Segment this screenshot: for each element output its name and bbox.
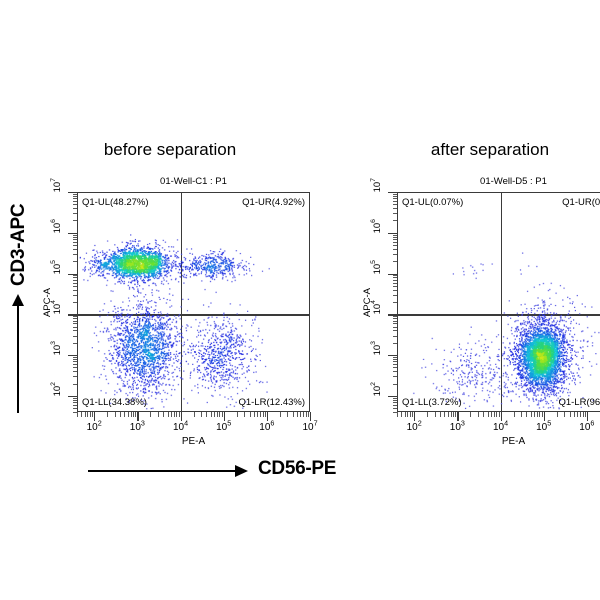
x-tick-label: 104 [493, 422, 508, 433]
plot-frame-before[interactable]: Q1-UL(48.27%) Q1-UR(4.92%) Q1-LL(34.38%)… [77, 192, 310, 412]
x-tick-label: 102 [407, 422, 422, 433]
y-tick-label: 107 [372, 178, 383, 192]
quadrant-label-lr-before: Q1-LR(12.43%) [238, 397, 305, 408]
y-tick-label: 102 [52, 382, 63, 396]
plot-title-after: 01-Well-D5 : P1 [397, 176, 600, 187]
x-axis-name-after: PE-A [397, 436, 600, 447]
y-axis-ticks-before [68, 192, 77, 412]
panel-heading-after: after separation [325, 140, 600, 160]
quadrant-label-ul-before: Q1-UL(48.27%) [82, 197, 149, 208]
y-tick-label: 103 [52, 341, 63, 355]
quadrant-label-lr-after: Q1-LR(96.19%) [558, 397, 600, 408]
x-tick-label: 103 [130, 422, 145, 433]
x-axis-ticks-after [397, 412, 600, 421]
x-tick-label: 104 [173, 422, 188, 433]
plot-frame-after[interactable]: Q1-UL(0.07%) Q1-UR(0.02%) Q1-LL(3.72%) Q… [397, 192, 600, 412]
quadrant-label-ul-after: Q1-UL(0.07%) [402, 197, 463, 208]
y-tick-label: 107 [52, 178, 63, 192]
y-axis-ticks-after [388, 192, 397, 412]
panel-after-separation: after separation 01-Well-D5 : P1 APC-A Q… [275, 0, 600, 600]
y-tick-label: 106 [372, 219, 383, 233]
scatter-plot-before [78, 193, 309, 411]
y-tick-label: 103 [372, 341, 383, 355]
y-tick-label: 105 [52, 260, 63, 274]
flow-cytometry-figure: CD3-APC CD56-PE before separation 01-Wel… [0, 0, 600, 600]
x-tick-label: 106 [579, 422, 594, 433]
x-tick-label: 105 [536, 422, 551, 433]
x-tick-label: 102 [87, 422, 102, 433]
y-tick-label: 102 [372, 382, 383, 396]
y-tick-label: 104 [52, 300, 63, 314]
quadrant-label-ll-before: Q1-LL(34.38%) [82, 397, 147, 408]
y-tick-label: 105 [372, 260, 383, 274]
x-tick-label: 106 [259, 422, 274, 433]
y-tick-label: 106 [52, 219, 63, 233]
quadrant-label-ll-after: Q1-LL(3.72%) [402, 397, 462, 408]
x-tick-label: 105 [216, 422, 231, 433]
quadrant-label-ur-after: Q1-UR(0.02%) [562, 197, 600, 208]
scatter-plot-after [398, 193, 600, 411]
x-tick-label: 103 [450, 422, 465, 433]
y-tick-label: 104 [372, 300, 383, 314]
quadrant-label-ur-before: Q1-UR(4.92%) [242, 197, 305, 208]
